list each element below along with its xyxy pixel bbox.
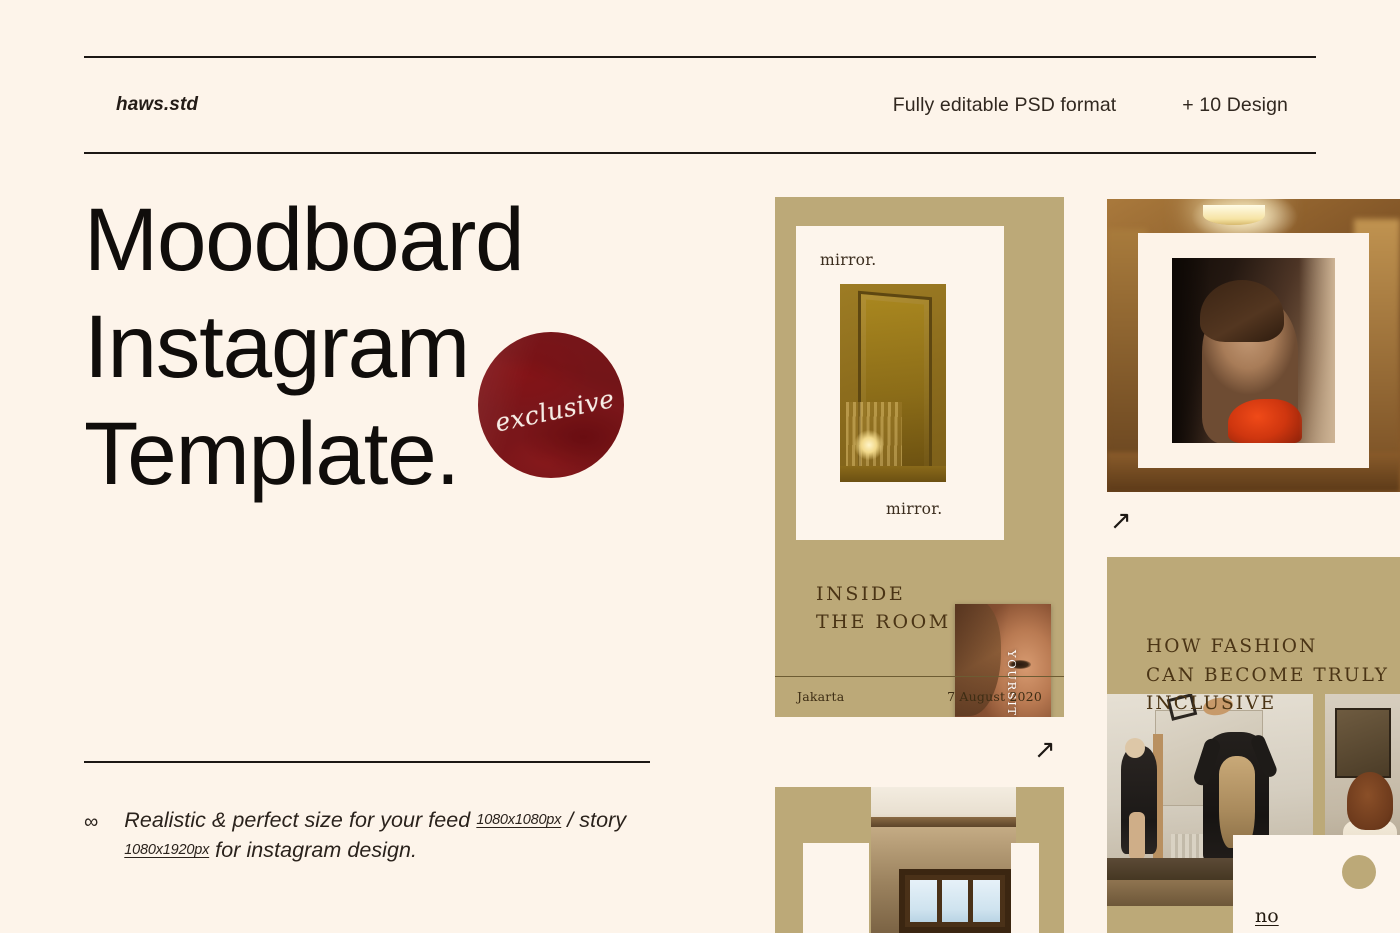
window-pane [973, 880, 1000, 922]
story-title-line-1: INSIDE [816, 581, 951, 609]
studio-model-legs [1129, 812, 1145, 860]
studio-model-head [1125, 738, 1145, 758]
story-footer-date: 7 August 2020 [947, 689, 1042, 704]
interior-white-panel-right [1011, 843, 1039, 933]
artist-hair [1347, 772, 1393, 830]
mockup-card-framed-portrait[interactable] [1107, 199, 1400, 492]
title-line-2: Instagram [84, 293, 724, 400]
mockup-card-fashion[interactable]: HOW FASHION CAN BECOME TRULY INCLUSIVE [1107, 557, 1400, 933]
fashion-title: HOW FASHION CAN BECOME TRULY INCLUSIVE [1146, 633, 1389, 719]
mockup-card-story[interactable]: mirror. mirror. YOURSITE.CO INSIDE THE R [775, 197, 1064, 717]
window-pane [942, 880, 969, 922]
interior-photo [871, 787, 1016, 933]
interior-white-panel-left [803, 843, 869, 933]
note-circle-accent [1342, 855, 1376, 889]
frame-ceiling-lamp [1203, 205, 1265, 225]
story-label-mirror-top: mirror. [820, 251, 877, 269]
fashion-title-line-1: HOW FASHION [1146, 633, 1389, 662]
interior-beam [871, 817, 1016, 827]
fashion-title-line-3: INCLUSIVE [1146, 690, 1389, 719]
interior-window [899, 869, 1011, 933]
fashion-title-line-2: CAN BECOME TRULY [1146, 662, 1389, 691]
story-label-mirror-bottom: mirror. [886, 500, 943, 518]
hero-section: exclusive Moodboard Instagram Template. [84, 186, 724, 506]
frame-inner-photo [1172, 258, 1335, 443]
arrow-up-right-icon: ↗ [1034, 737, 1056, 763]
story-footer: Jakarta 7 August 2020 [775, 676, 1064, 717]
story-title-line-2: THE ROOM [816, 609, 951, 637]
story-white-panel: mirror. mirror. [796, 226, 1004, 540]
fashion-note-card: no [1233, 835, 1400, 933]
title-line-1: Moodboard [84, 186, 724, 293]
photo-light-glow [854, 430, 884, 460]
photo-floor [840, 466, 946, 482]
story-title: INSIDE THE ROOM [816, 581, 951, 636]
title-line-3: Template. [84, 400, 724, 507]
story-footer-location: Jakarta [797, 689, 844, 704]
mockup-card-interior[interactable] [775, 787, 1064, 933]
note-label: no [1255, 905, 1279, 927]
inner-photo-red-accent [1228, 399, 1302, 443]
page-title: Moodboard Instagram Template. [84, 186, 724, 506]
arrow-up-right-icon: ↗ [1110, 508, 1132, 534]
inner-photo-light-edge [1299, 258, 1335, 443]
story-mirror-photo [840, 284, 946, 482]
window-pane [910, 880, 937, 922]
